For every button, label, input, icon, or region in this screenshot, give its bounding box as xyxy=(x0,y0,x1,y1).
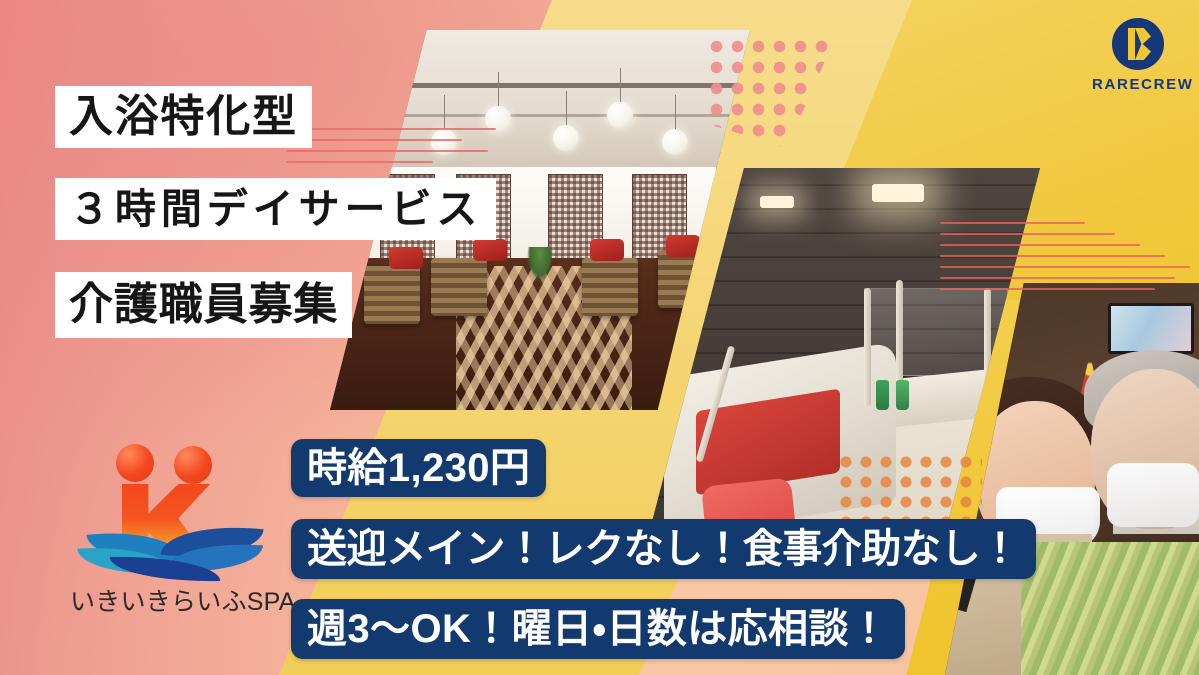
rarecrew-mark-icon xyxy=(1112,18,1164,70)
rarecrew-wordmark: RARECREW xyxy=(1092,76,1184,93)
red-cushion xyxy=(473,239,507,261)
resident-blanket xyxy=(1021,542,1199,675)
recruitment-banner: 入浴特化型 ３時間デイサービス 介護職員募集 いきいきらいふSPA 時給1,23… xyxy=(0,0,1199,675)
potted-plant-icon xyxy=(527,247,553,281)
facility-logo-wordmark: いきいきらいふSPA xyxy=(70,582,280,618)
highlight-schedule: 週3〜OK！曜日・日数は応相談！ xyxy=(291,599,905,659)
television-screen xyxy=(1108,303,1194,354)
headline-line-1: 入浴特化型 xyxy=(55,86,312,148)
highlight-hourly-wage: 時給1,230円 xyxy=(291,439,546,497)
rattan-chair xyxy=(364,266,420,324)
grab-rail xyxy=(864,288,871,406)
pendant-lamp-icon xyxy=(662,129,688,155)
facility-logo: いきいきらいふSPA xyxy=(70,438,280,618)
logo-head-left-icon xyxy=(116,444,154,482)
conditioner-bottle xyxy=(896,380,909,410)
rattan-chair xyxy=(431,258,487,316)
logo-head-right-icon xyxy=(174,446,212,484)
resident-face-mask xyxy=(1107,463,1199,527)
pendant-lamp-icon xyxy=(553,125,579,151)
ceiling-light-icon xyxy=(872,184,924,202)
headline-line-2: ３時間デイサービス xyxy=(55,178,496,240)
pink-line-fan-left xyxy=(286,128,496,172)
red-cushion xyxy=(590,239,624,261)
rattan-chair xyxy=(582,258,638,316)
rarecrew-logo: RARECREW xyxy=(1092,18,1184,106)
highlight-duties: 送迎メイン！レクなし！食事介助なし！ xyxy=(291,519,1036,579)
ceiling-light-icon xyxy=(760,196,794,208)
headline-line-3: 介護職員募集 xyxy=(55,272,352,338)
shampoo-bottle xyxy=(876,380,889,410)
red-cushion xyxy=(389,247,423,269)
red-cushion xyxy=(666,235,700,257)
pink-line-fan-right xyxy=(940,222,1190,299)
